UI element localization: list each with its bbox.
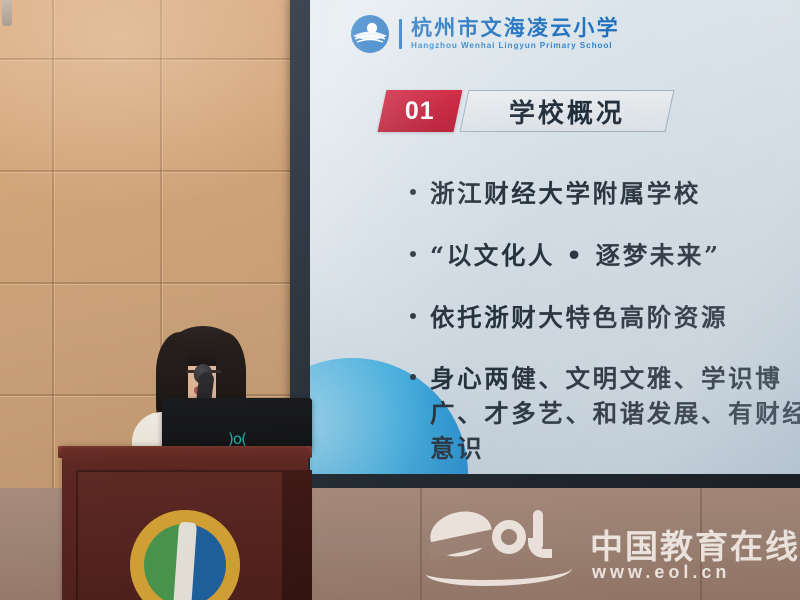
school-logo-icon [350,14,390,54]
eol-logo-icon [430,508,570,582]
bullet-dot-icon [410,374,416,380]
wall-seam [0,170,292,172]
ceiling-fixture [2,0,12,26]
presentation-photo-scene: 杭州市文海凌云小学 Hangzhou Wenhai Lingyun Primar… [0,0,800,600]
wall-seam-vertical [420,488,422,600]
eol-letter-l-hook [528,538,552,558]
watermark-url: www.eol.cn [592,562,730,583]
wall-seam [0,58,292,60]
school-name-cn: 杭州市文海凌云小学 [411,17,620,38]
section-title-text: 学校概况 [509,93,625,130]
bullet-text: 依托浙财大特色高阶资源 [430,301,728,336]
slide-logo-header: 杭州市文海凌云小学 Hangzhou Wenhai Lingyun Primar… [350,14,620,54]
section-number-text: 01 [405,97,435,126]
bullet-text: 身心两健、文明文雅、学识博广、才多艺、和谐发展、有财经意识 [430,362,800,466]
bullet-text: “以文化人 • 逐梦未来” [430,239,721,274]
list-item: 依托浙财大特色高阶资源 [410,301,800,336]
projection-screen: 杭州市文海凌云小学 Hangzhou Wenhai Lingyun Primar… [310,0,800,474]
section-title-plate: 学校概况 [460,90,675,132]
school-name-en: Hangzhou Wenhai Lingyun Primary School [411,42,620,50]
bullet-dot-icon [410,251,416,257]
laptop: )o( [162,398,312,450]
eol-swoosh [426,556,572,586]
slide-bullet-list: 浙江财经大学附属学校 “以文化人 • 逐梦未来” 依托浙财大特色高阶资源 身心两… [410,177,800,474]
logo-text: 杭州市文海凌云小学 Hangzhou Wenhai Lingyun Primar… [411,17,620,50]
list-item: 浙江财经大学附属学校 [410,177,800,212]
speaker-and-podium: )o( [110,320,300,600]
eol-letter-o [492,520,526,554]
wall-seam [0,282,292,284]
podium-side-panel [282,470,312,600]
section-number-badge: 01 [378,90,463,132]
bullet-dot-icon [410,189,416,195]
slide-section-title: 01 学校概况 [382,90,670,132]
bullet-text: 浙江财经大学附属学校 [430,177,701,212]
wall-seam-vertical [52,0,54,492]
bullet-dot-icon [410,313,416,319]
watermark-title: 中国教育在线 [590,520,800,568]
list-item: “以文化人 • 逐梦未来” [410,239,800,274]
list-item: 身心两健、文明文雅、学识博广、才多艺、和谐发展、有财经意识 [410,362,800,466]
logo-divider [399,19,402,49]
